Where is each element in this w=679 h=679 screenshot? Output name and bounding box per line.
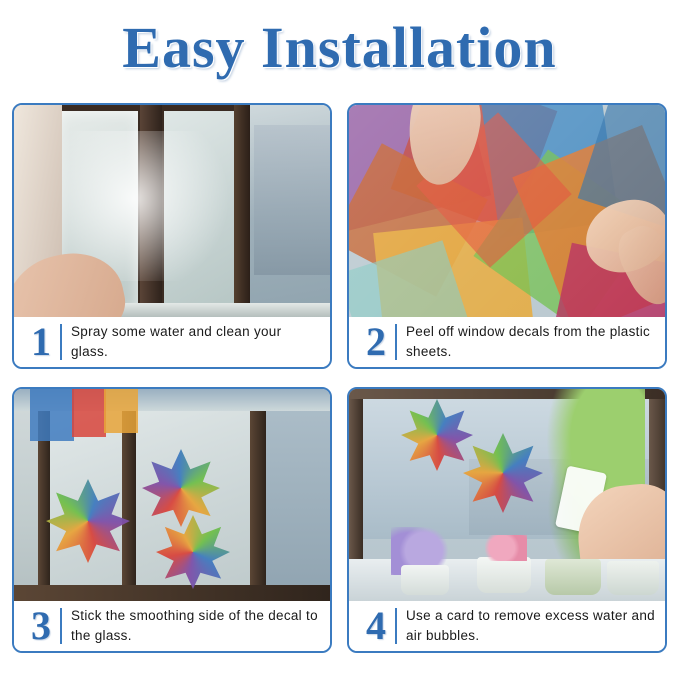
step-1-number: 1 — [24, 322, 58, 362]
step-3-number: 3 — [24, 606, 58, 646]
step-1-text: Spray some water and clean your glass. — [71, 322, 322, 361]
step-1-divider — [60, 324, 62, 360]
infographic-page: Easy Installation 1 Sp — [0, 0, 679, 679]
step-3-photo — [14, 389, 330, 603]
step-3-divider — [60, 608, 62, 644]
step-4-photo — [349, 389, 665, 603]
step-card-3: 3 Stick the smoothing side of the decal … — [12, 387, 332, 653]
step-4-caption: 4 Use a card to remove excess water and … — [349, 601, 665, 651]
step-2-caption: 2 Peel off window decals from the plasti… — [349, 317, 665, 367]
step-card-2: 2 Peel off window decals from the plasti… — [347, 103, 667, 369]
step-2-number: 2 — [359, 322, 393, 362]
step-4-number: 4 — [359, 606, 393, 646]
step-2-text: Peel off window decals from the plastic … — [406, 322, 657, 361]
step-1-caption: 1 Spray some water and clean your glass. — [14, 317, 330, 367]
step-4-divider — [395, 608, 397, 644]
step-card-4: 4 Use a card to remove excess water and … — [347, 387, 667, 653]
step-1-photo — [14, 105, 330, 319]
step-2-photo — [349, 105, 665, 319]
page-title: Easy Installation — [0, 14, 679, 81]
step-3-caption: 3 Stick the smoothing side of the decal … — [14, 601, 330, 651]
steps-grid: 1 Spray some water and clean your glass. — [12, 103, 667, 667]
step-3-text: Stick the smoothing side of the decal to… — [71, 606, 322, 645]
step-2-divider — [395, 324, 397, 360]
step-4-text: Use a card to remove excess water and ai… — [406, 606, 657, 645]
step-card-1: 1 Spray some water and clean your glass. — [12, 103, 332, 369]
